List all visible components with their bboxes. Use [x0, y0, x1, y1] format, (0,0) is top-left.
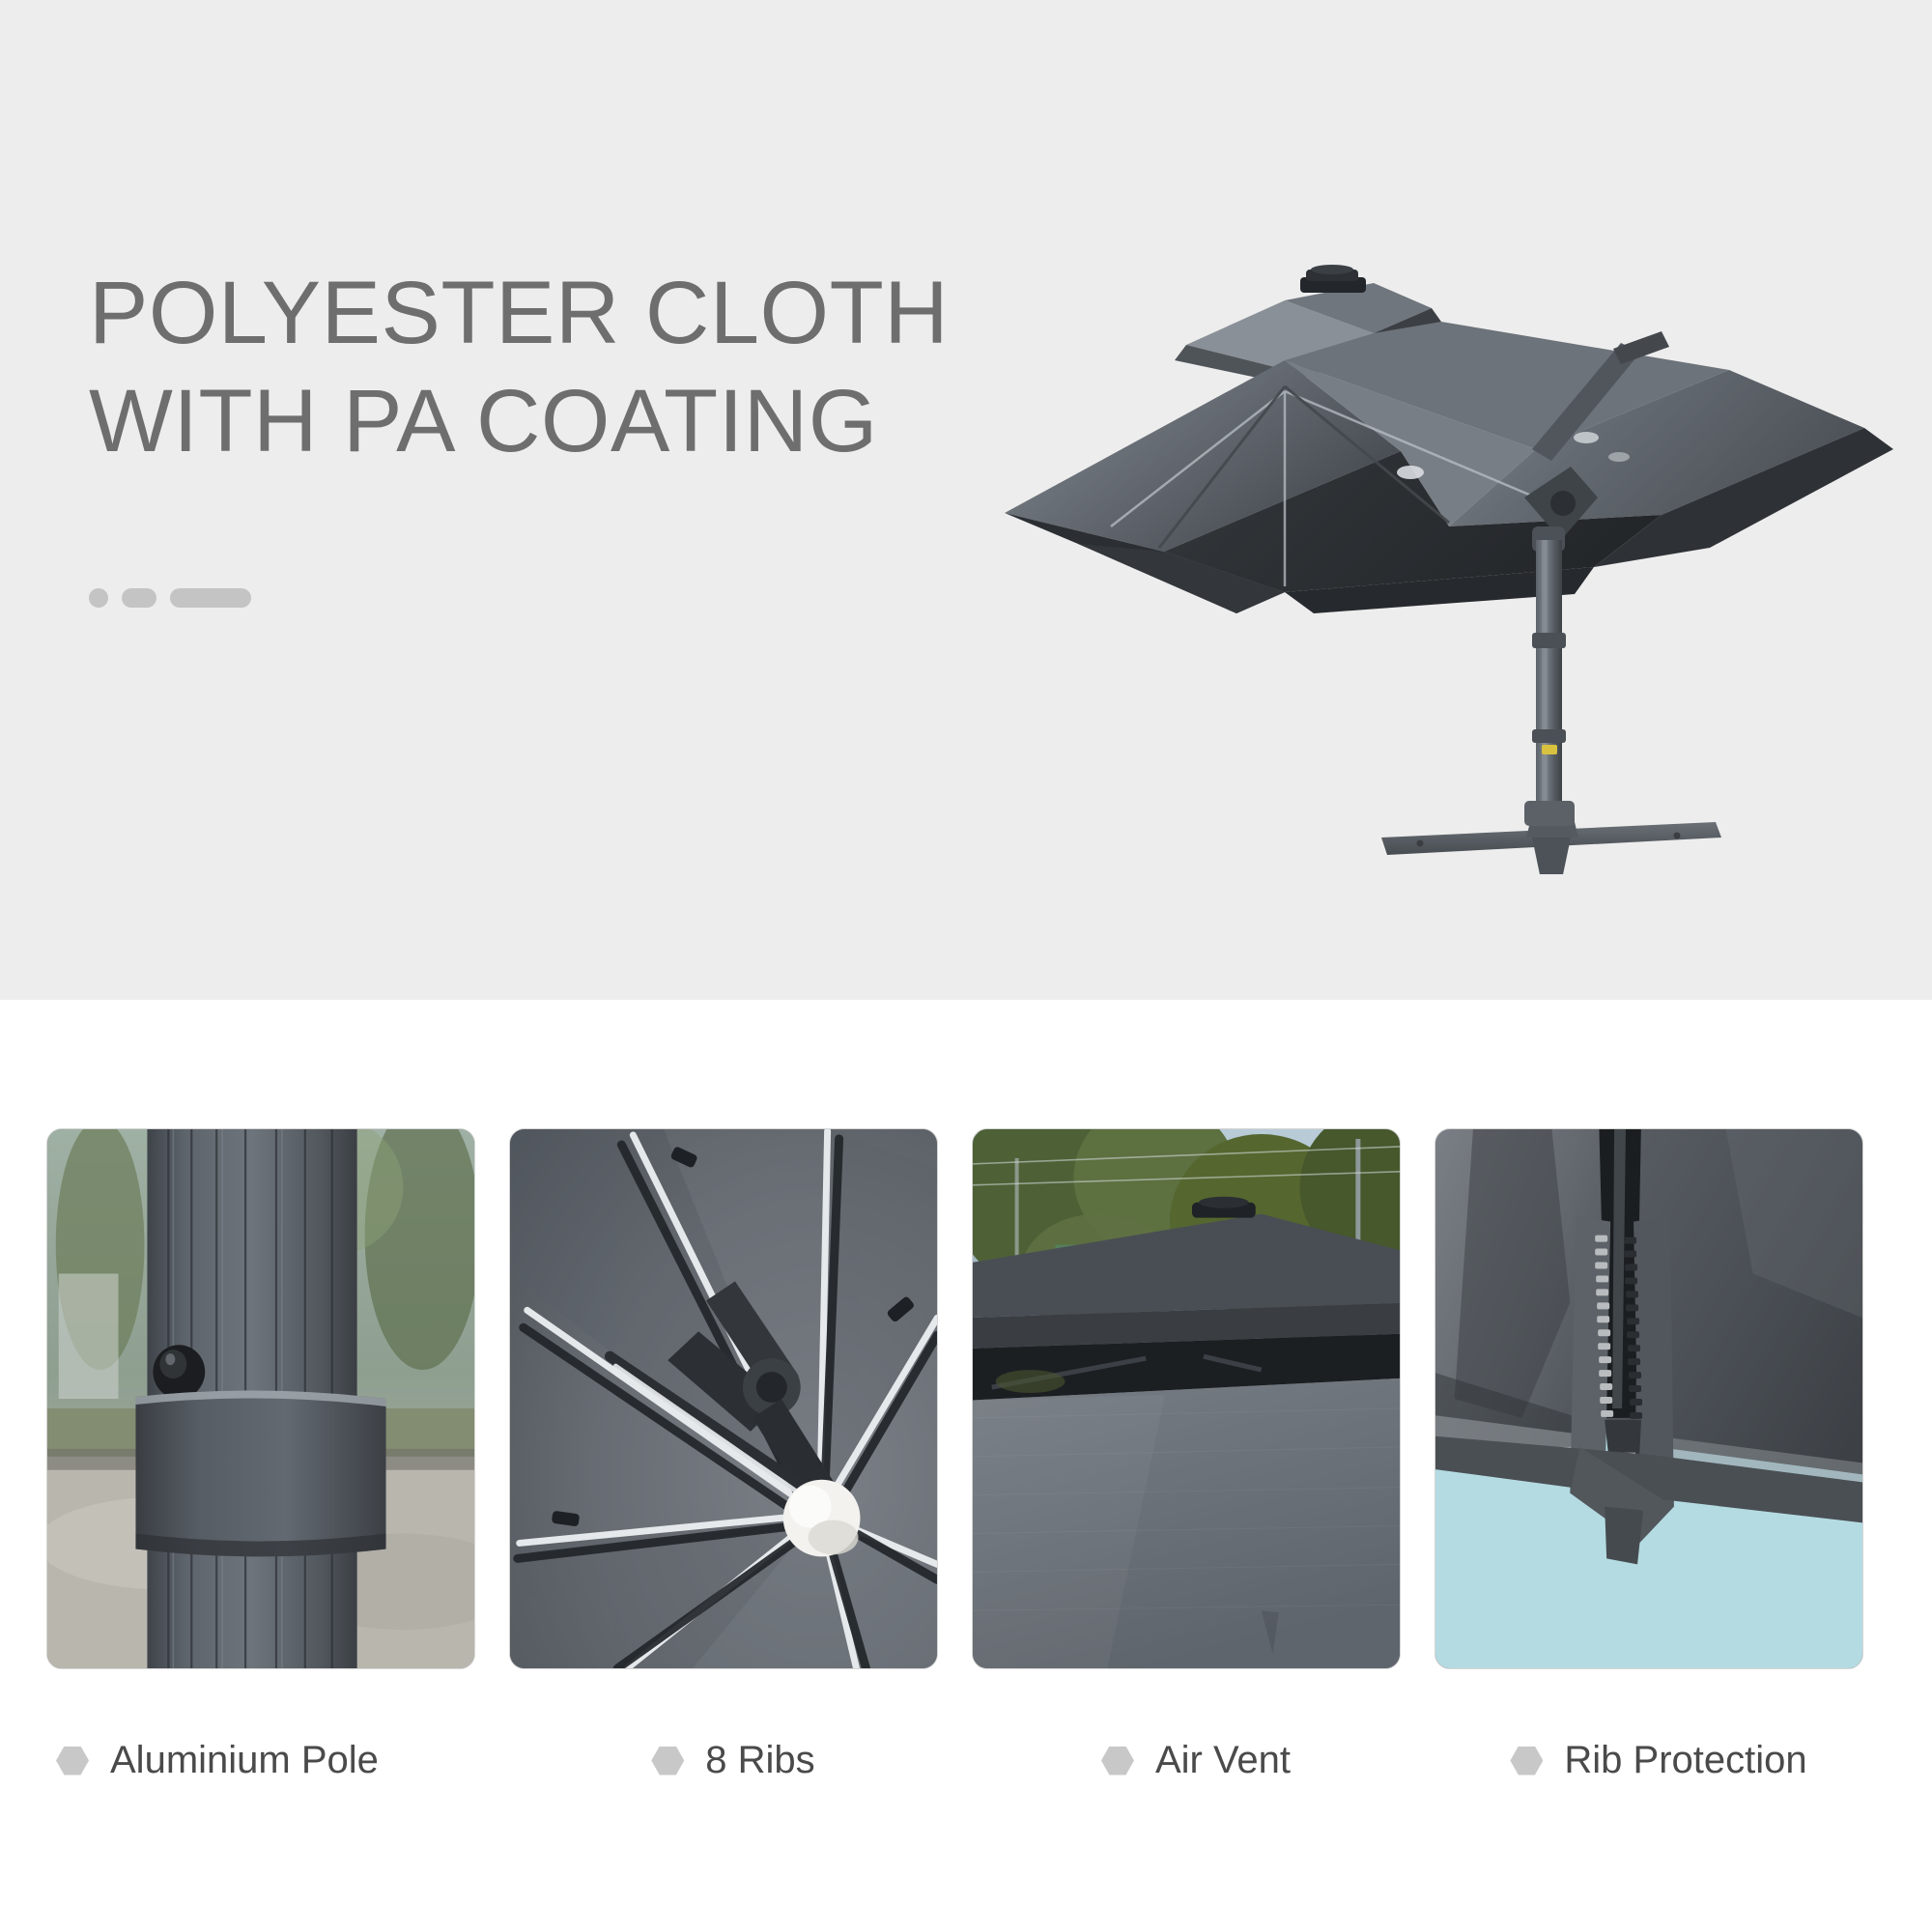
feature-label-air-vent: Air Vent: [1155, 1739, 1291, 1782]
feature-thumbnail-air-vent[interactable]: [972, 1128, 1401, 1669]
feature-caption-8-ribs: 8 Ribs: [519, 1739, 948, 1782]
feature-caption-row: Aluminium Pole 8 Ribs Air Vent Rib Prote…: [46, 1739, 1886, 1782]
feature-caption-air-vent: Air Vent: [981, 1739, 1410, 1782]
hero-product-image: [995, 208, 1893, 874]
feature-label-rib-protection: Rib Protection: [1564, 1739, 1806, 1782]
features-section: Aluminium Pole 8 Ribs Air Vent Rib Prote…: [0, 1000, 1932, 1932]
feature-label-aluminium-pole: Aluminium Pole: [110, 1739, 379, 1782]
feature-caption-rib-protection: Rib Protection: [1444, 1739, 1873, 1782]
page-title: POLYESTER CLOTH WITH PA COATING: [89, 259, 949, 475]
feature-thumbnail-rib-protection[interactable]: [1435, 1128, 1863, 1669]
hexagon-bullet-icon: [651, 1747, 684, 1776]
pip-dot-icon: [89, 588, 108, 608]
pip-long-bar-icon: [170, 588, 251, 608]
feature-thumbnail-8-ribs[interactable]: [509, 1128, 938, 1669]
hero-section: POLYESTER CLOTH WITH PA COATING: [0, 0, 1932, 1000]
hexagon-bullet-icon: [1510, 1747, 1543, 1776]
feature-label-8-ribs: 8 Ribs: [705, 1739, 814, 1782]
hexagon-bullet-icon: [56, 1747, 89, 1776]
hexagon-bullet-icon: [1101, 1747, 1134, 1776]
progress-pips: [89, 588, 251, 608]
pip-short-bar-icon: [122, 588, 156, 608]
feature-thumbnail-aluminium-pole[interactable]: [46, 1128, 475, 1669]
feature-thumbnail-row: [46, 1128, 1886, 1669]
feature-caption-aluminium-pole: Aluminium Pole: [46, 1739, 485, 1782]
